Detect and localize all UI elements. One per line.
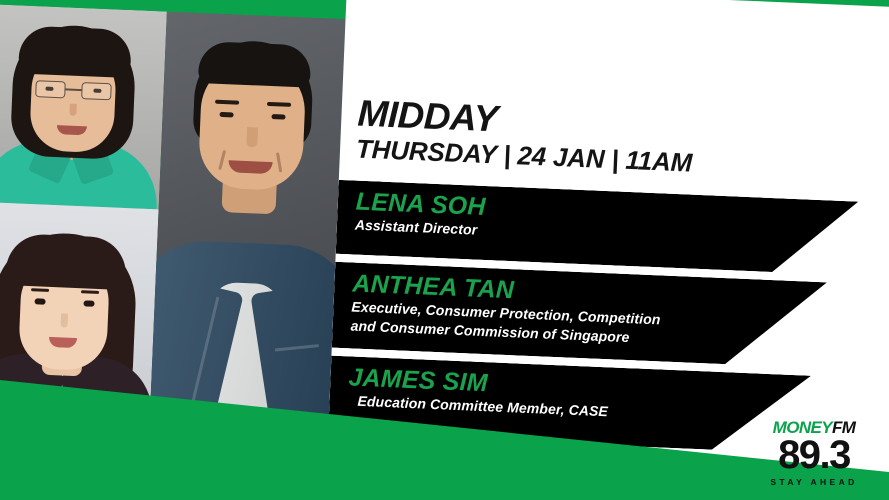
lens-right: [81, 82, 112, 100]
speaker-banner-1: LENA SOH Assistant Director: [336, 180, 859, 276]
speaker-banner-1-inner: LENA SOH Assistant Director: [336, 180, 858, 263]
eye-right-shape: [83, 300, 94, 306]
photo-james-sim: [149, 12, 345, 439]
left-photo-column: [0, 4, 167, 431]
nose-shape: [60, 313, 68, 327]
logo-tagline: STAY AHEAD: [753, 478, 875, 487]
speaker-banner-2-inner: ANTHEA TAN Executive, Consumer Protectio…: [332, 262, 827, 363]
eye-left-shape: [34, 298, 45, 304]
glasses-icon: [35, 80, 112, 100]
eye-right-shape: [271, 114, 285, 120]
eye-left-shape: [219, 112, 233, 118]
speaker-photo-collage: [0, 4, 346, 439]
station-logo: MONEYFM 89.3 STAY AHEAD: [753, 419, 875, 486]
speaker-banner-2: ANTHEA TAN Executive, Consumer Protectio…: [332, 262, 827, 369]
hair-fringe-shape: [5, 233, 127, 290]
show-title-block: MIDDAY THURSDAY | 24 JAN | 11AM: [355, 95, 694, 178]
logo-frequency: 89.3: [753, 437, 875, 474]
lens-bridge: [65, 88, 81, 90]
nose-shape: [69, 104, 76, 116]
right-photo-column: [149, 12, 345, 439]
hair-fringe-shape: [197, 41, 311, 88]
radio-show-promo-poster: MIDDAY THURSDAY | 24 JAN | 11AM LENA SOH…: [0, 0, 889, 500]
hair-fringe-shape: [18, 25, 132, 78]
nose-shape: [246, 127, 258, 147]
lens-left: [35, 80, 66, 98]
photo-lena-soh: [0, 4, 167, 209]
info-panel-content: MIDDAY THURSDAY | 24 JAN | 11AM LENA SOH…: [327, 0, 889, 479]
